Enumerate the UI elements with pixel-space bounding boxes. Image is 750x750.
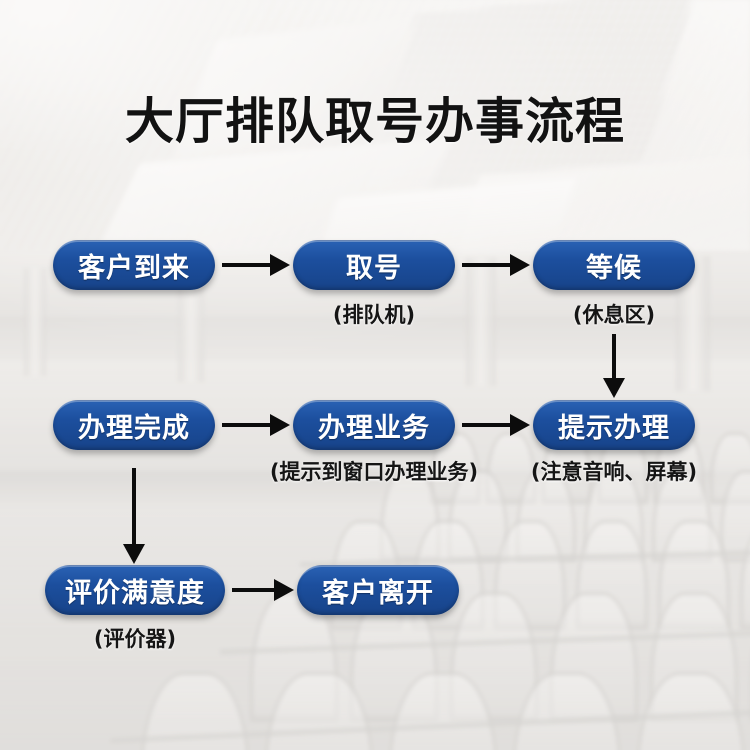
arrow-arrive-to-number bbox=[222, 248, 290, 282]
flow-node-caption-take-number: (排队机) bbox=[293, 299, 455, 329]
arrow-shaft bbox=[232, 588, 278, 592]
flow-node-handle-business[interactable]: 办理业务 bbox=[293, 400, 455, 450]
arrow-shaft bbox=[222, 263, 274, 267]
arrow-shaft bbox=[462, 263, 514, 267]
flow-node-take-number[interactable]: 取号 bbox=[293, 240, 455, 290]
arrow-rate-to-leave bbox=[232, 573, 294, 607]
flow-node-customer-arrive[interactable]: 客户到来 bbox=[53, 240, 215, 290]
flow-node-call-prompt[interactable]: 提示办理 bbox=[533, 400, 695, 450]
arrow-head-right-icon bbox=[510, 254, 530, 276]
flow-node-wait[interactable]: 等候 bbox=[533, 240, 695, 290]
flow-node-label: 评价满意度 bbox=[65, 571, 205, 610]
arrow-head-down-icon bbox=[123, 544, 145, 564]
arrow-business-to-prompt bbox=[462, 408, 530, 442]
arrow-number-to-wait bbox=[462, 248, 530, 282]
arrow-shaft bbox=[462, 423, 514, 427]
arrow-head-right-icon bbox=[270, 414, 290, 436]
flow-node-caption-call-prompt: (注意音响、屏幕) bbox=[508, 456, 720, 486]
arrow-head-right-icon bbox=[274, 579, 294, 601]
flow-node-caption-rate-satisfaction: (评价器) bbox=[45, 623, 225, 653]
arrow-shaft bbox=[132, 468, 136, 548]
flow-node-service-done[interactable]: 办理完成 bbox=[53, 400, 215, 450]
flow-node-label: 取号 bbox=[346, 246, 402, 285]
flow-node-caption-wait: (休息区) bbox=[533, 299, 695, 329]
arrow-head-right-icon bbox=[270, 254, 290, 276]
flow-node-caption-handle-business: (提示到窗口办理业务) bbox=[254, 456, 494, 486]
flow-node-label: 办理完成 bbox=[78, 406, 190, 445]
arrow-done-to-rate bbox=[118, 468, 150, 564]
flow-content: 大厅排队取号办事流程 客户到来 取号 (排队机) 等候 (休息区) 办理完成 bbox=[0, 0, 750, 750]
flow-node-label: 办理业务 bbox=[318, 406, 430, 445]
arrow-shaft bbox=[222, 423, 274, 427]
flow-node-rate-satisfaction[interactable]: 评价满意度 bbox=[45, 565, 225, 615]
page-title: 大厅排队取号办事流程 bbox=[0, 92, 750, 152]
arrow-shaft bbox=[612, 334, 616, 382]
flow-node-label: 客户离开 bbox=[322, 571, 434, 610]
flow-node-label: 提示办理 bbox=[558, 406, 670, 445]
arrow-head-right-icon bbox=[510, 414, 530, 436]
flow-node-label: 客户到来 bbox=[78, 246, 190, 285]
arrow-wait-to-prompt bbox=[598, 334, 630, 398]
flowchart-poster: 大厅排队取号办事流程 客户到来 取号 (排队机) 等候 (休息区) 办理完成 bbox=[0, 0, 750, 750]
arrow-done-to-business bbox=[222, 408, 290, 442]
flow-node-label: 等候 bbox=[586, 246, 642, 285]
flow-node-customer-leave[interactable]: 客户离开 bbox=[297, 565, 459, 615]
arrow-head-down-icon bbox=[603, 378, 625, 398]
